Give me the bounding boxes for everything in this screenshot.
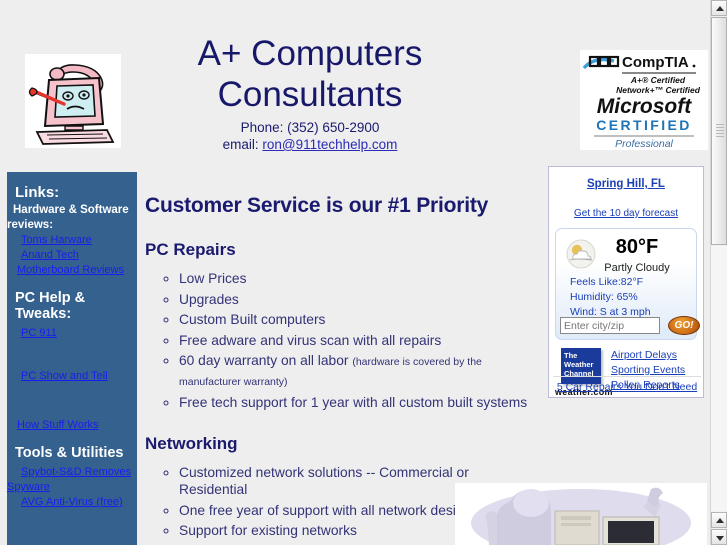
weather-city-link[interactable]: Spring Hill, FL bbox=[587, 178, 665, 190]
scrollbar-thumb[interactable] bbox=[711, 17, 727, 245]
list-item: Custom Built computers bbox=[179, 311, 535, 329]
site-title-block: A+ Computers Consultants Phone: (352) 65… bbox=[150, 33, 470, 152]
weather-forecast-row: Get the 10 day forecast bbox=[549, 207, 703, 219]
sidebar-link-anand-tech[interactable]: Anand Tech bbox=[7, 248, 137, 263]
technician-photo bbox=[455, 483, 707, 545]
weather-link-airport-delays[interactable]: Airport Delays bbox=[611, 348, 685, 363]
sick-computer-logo bbox=[25, 54, 121, 148]
weather-city-row: Spring Hill, FL bbox=[549, 178, 703, 190]
section-heading-networking: Networking bbox=[145, 434, 535, 454]
sidebar-heading: Links: bbox=[7, 182, 137, 203]
email-label: email: bbox=[223, 137, 263, 152]
sidebar-link-spybot-line1[interactable]: Spybot-S&D Removes bbox=[7, 465, 137, 480]
weather-promo-link[interactable]: 5 Car Repairs You Don't Need bbox=[557, 381, 697, 393]
section-heading-pc-repairs: PC Repairs bbox=[145, 240, 535, 260]
scrollbar-up-arrow[interactable] bbox=[711, 0, 727, 16]
sidebar-link-pc-911[interactable]: PC 911 bbox=[7, 326, 137, 341]
sidebar-link-avg-antivirus[interactable]: AVG Anti-Virus (free) bbox=[7, 495, 137, 510]
sidebar-link-pc-show-and-tell[interactable]: PC Show and Tell bbox=[7, 369, 137, 384]
technician-with-wrench-and-computer-icon bbox=[455, 483, 707, 545]
list-item: 60 day warranty on all labor (hardware i… bbox=[179, 352, 535, 391]
list-item-text: Low Prices bbox=[179, 271, 246, 286]
list-item-text: One free year of support with all networ… bbox=[179, 503, 478, 518]
list-item-text: Free adware and virus scan with all repa… bbox=[179, 333, 441, 348]
site-title-line2: Consultants bbox=[150, 74, 470, 115]
sidebar-link-how-stuff-works[interactable]: How Stuff Works bbox=[7, 418, 137, 433]
weather-location-entry: GO! bbox=[560, 317, 704, 335]
sidebar-subheading-line2: reviews: bbox=[7, 218, 137, 233]
svg-text:Network+™ Certified: Network+™ Certified bbox=[616, 85, 701, 95]
weather-feels-like: Feels Like:82°F bbox=[570, 276, 696, 289]
svg-text:CERTIFIED: CERTIFIED bbox=[596, 117, 692, 133]
weather-widget: Spring Hill, FL Get the 10 day forecast … bbox=[548, 166, 704, 398]
sidebar-spacer-2 bbox=[7, 341, 137, 369]
svg-text:A+® Certified: A+® Certified bbox=[630, 75, 686, 85]
phone-line: Phone: (352) 650-2900 bbox=[150, 120, 470, 135]
certification-badge: CompTIA A+® Certified Network+™ Certifie… bbox=[580, 50, 708, 150]
weather-city-zip-input[interactable] bbox=[560, 317, 660, 334]
list-item: Free tech support for 1 year with all cu… bbox=[179, 394, 535, 412]
list-item: Free adware and virus scan with all repa… bbox=[179, 332, 535, 350]
list-item: Low Prices bbox=[179, 270, 535, 288]
weather-go-button[interactable]: GO! bbox=[668, 316, 700, 335]
weather-forecast-link[interactable]: Get the 10 day forecast bbox=[574, 208, 678, 219]
weather-current-card: 80°F Partly Cloudy Feels Like:82°F Humid… bbox=[555, 228, 697, 340]
site-title-line1: A+ Computers bbox=[150, 33, 470, 74]
page-tagline: Customer Service is our #1 Priority bbox=[145, 194, 535, 218]
list-item-text: Upgrades bbox=[179, 292, 239, 307]
chevron-up-icon bbox=[716, 518, 724, 523]
vertical-scrollbar[interactable] bbox=[710, 0, 727, 545]
email-line: email: ron@911techhelp.com bbox=[150, 137, 470, 152]
sidebar-spacer-1 bbox=[7, 278, 137, 288]
sidebar-spacer-3 bbox=[7, 384, 137, 418]
sick-computer-icon bbox=[25, 54, 121, 148]
twc-logo-line2: Weather bbox=[564, 360, 601, 369]
list-item-text: Support for existing networks bbox=[179, 523, 357, 538]
sidebar-link-spybot-line2[interactable]: Spyware bbox=[7, 480, 137, 495]
weather-promo-row: 5 Car Repairs You Don't Need bbox=[553, 376, 701, 393]
list-item-text: 60 day warranty on all labor bbox=[179, 353, 352, 368]
sidebar-spacer-4 bbox=[7, 433, 137, 443]
sidebar-link-toms-hardware[interactable]: Toms Harware bbox=[7, 233, 137, 248]
web-page-canvas: A+ Computers Consultants Phone: (352) 65… bbox=[0, 0, 710, 545]
comptia-microsoft-certified-icon: CompTIA A+® Certified Network+™ Certifie… bbox=[580, 50, 708, 150]
scrollbar-down-arrow[interactable] bbox=[711, 529, 727, 545]
email-link[interactable]: ron@911techhelp.com bbox=[262, 137, 397, 152]
chevron-down-icon bbox=[716, 536, 724, 541]
svg-text:Microsoft: Microsoft bbox=[597, 95, 693, 118]
chevron-up-icon bbox=[716, 6, 724, 11]
sidebar-links-panel: Links: Hardware & Software reviews: Toms… bbox=[7, 172, 137, 545]
list-item: Upgrades bbox=[179, 291, 535, 309]
svg-text:Professional: Professional bbox=[615, 138, 673, 150]
sidebar-subheading-line1: Hardware & Software bbox=[7, 203, 137, 218]
twc-logo-line1: The bbox=[564, 351, 601, 360]
sidebar-heading-tools: Tools & Utilities bbox=[7, 443, 137, 465]
sidebar-heading-pc-help: PC Help & Tweaks: bbox=[7, 288, 137, 326]
sidebar-link-motherboard-reviews[interactable]: Motherboard Reviews bbox=[7, 263, 137, 278]
weather-humidity: Humidity: 65% bbox=[570, 291, 696, 304]
site-header: A+ Computers Consultants Phone: (352) 65… bbox=[0, 0, 710, 168]
sun-behind-cloud-icon bbox=[566, 239, 596, 269]
scrollbar-track[interactable] bbox=[711, 246, 727, 511]
list-item-text: Custom Built computers bbox=[179, 312, 325, 327]
scrollbar-up-arrow-bottom[interactable] bbox=[711, 512, 727, 528]
pc-repairs-list: Low Prices Upgrades Custom Built compute… bbox=[145, 270, 535, 412]
svg-text:CompTIA: CompTIA bbox=[622, 54, 689, 71]
scrollbar-grip-icon bbox=[716, 124, 724, 138]
list-item-text: Customized network solutions -- Commerci… bbox=[179, 465, 469, 498]
list-item-text: Free tech support for 1 year with all cu… bbox=[179, 395, 527, 410]
